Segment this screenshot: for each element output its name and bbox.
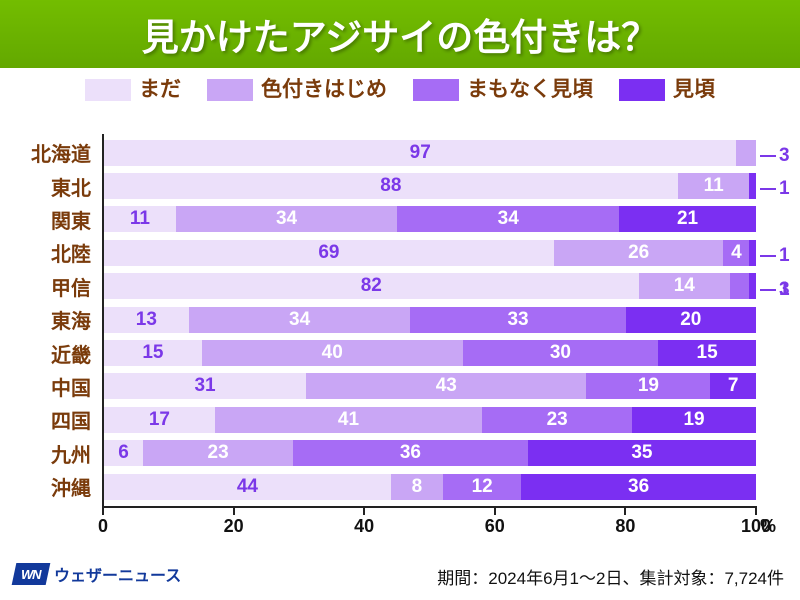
x-axis-tick-label: 80 xyxy=(615,516,635,537)
bar-segment[interactable]: 30 xyxy=(463,340,659,366)
legend-swatch-icon xyxy=(619,79,665,101)
bar-segment[interactable]: 14 xyxy=(639,273,730,299)
x-axis-tick-label: 20 xyxy=(224,516,244,537)
x-axis-tick xyxy=(363,506,365,515)
bar-value-label: 35 xyxy=(631,440,652,466)
bar-track: 3143197 xyxy=(104,373,756,399)
bar-segment[interactable]: 35 xyxy=(528,440,756,466)
brand-logo: WN ウェザーニュース xyxy=(14,562,181,586)
bar-segment[interactable]: 34 xyxy=(189,307,411,333)
bar-value-label: 36 xyxy=(400,440,421,466)
bar-value-label: 26 xyxy=(628,240,649,266)
bar-segment[interactable]: 12 xyxy=(443,474,521,500)
bar-value-label: 97 xyxy=(410,140,431,166)
bar-value-label: 44 xyxy=(237,474,258,500)
bar-segment[interactable]: 23 xyxy=(143,440,293,466)
page-title: 見かけたアジサイの色付きは？ xyxy=(0,0,800,68)
bar-segment[interactable]: 6 xyxy=(104,440,143,466)
bar-segment[interactable]: 15 xyxy=(658,340,756,366)
bar-value-label: 34 xyxy=(289,307,310,333)
bar-value-label: 36 xyxy=(628,474,649,500)
title-banner: 見かけたアジサイの色付きは？ xyxy=(0,0,800,68)
bar-value-label: 1 xyxy=(779,176,790,202)
bar-segment[interactable]: 11 xyxy=(104,206,176,232)
chart-row: 北陸692641 xyxy=(0,236,800,269)
legend-swatch-icon xyxy=(413,79,459,101)
x-axis-tick xyxy=(233,506,235,515)
bar-segment[interactable]: 41 xyxy=(215,407,482,433)
bar-segment[interactable]: 4 xyxy=(723,240,749,266)
bar-value-label: 1 xyxy=(779,277,790,303)
bar-value-label: 6 xyxy=(118,440,129,466)
bar-track: 11343421 xyxy=(104,206,756,232)
bar-value-label: 11 xyxy=(704,173,724,199)
bar-segment[interactable]: 43 xyxy=(306,373,586,399)
bar-value-label: 11 xyxy=(130,206,150,232)
chart-plot-area: 北海道973東北88111関東11343421北陸692641甲信821431東… xyxy=(0,112,800,512)
bar-value-label: 17 xyxy=(149,407,170,433)
bar-value-label: 15 xyxy=(697,340,718,366)
x-axis-tick-label: 100 xyxy=(741,516,771,537)
bar-value-label: 8 xyxy=(412,474,423,500)
footer: WN ウェザーニュース 期間：2024年6月1〜2日、集計対象：7,724件 xyxy=(0,556,800,600)
bar-segment[interactable]: 36 xyxy=(521,474,756,500)
bar-track: 973 xyxy=(104,140,756,166)
bar-segment[interactable]: 11 xyxy=(678,173,750,199)
bar-segment[interactable]: 13 xyxy=(104,307,189,333)
bar-value-label: 41 xyxy=(338,407,359,433)
bar-value-label: 30 xyxy=(550,340,571,366)
infographic-root: 見かけたアジサイの色付きは？ まだ色付きはじめまもなく見頃見頃 北海道973東北… xyxy=(0,0,800,600)
x-axis-tick xyxy=(624,506,626,515)
bar-value-callout: 1 xyxy=(760,243,790,269)
x-axis-tick-label: 0 xyxy=(98,516,108,537)
bar-value-label: 23 xyxy=(547,407,568,433)
bar-value-label: 14 xyxy=(674,273,695,299)
bar-segment[interactable]: 20 xyxy=(626,307,756,333)
bar-value-label: 3 xyxy=(779,143,790,169)
row-label-中国: 中国 xyxy=(51,370,91,403)
x-axis-tick-label: 60 xyxy=(485,516,505,537)
legend-label: まもなく見頃 xyxy=(467,79,593,101)
bar-track: 13343320 xyxy=(104,307,756,333)
bar-value-label: 82 xyxy=(361,273,382,299)
row-label-北海道: 北海道 xyxy=(31,136,91,169)
bar-value-callout: 3 xyxy=(760,143,790,169)
bar-value-callout: 1 xyxy=(760,277,790,303)
bar-segment[interactable]: 23 xyxy=(482,407,632,433)
bar-value-label: 40 xyxy=(322,340,343,366)
row-label-関東: 関東 xyxy=(51,203,91,236)
row-label-沖縄: 沖縄 xyxy=(51,470,91,503)
callout-leader-line xyxy=(760,155,776,157)
bar-value-label: 43 xyxy=(436,373,457,399)
bar-segment[interactable]: 44 xyxy=(104,474,391,500)
row-label-甲信: 甲信 xyxy=(51,270,91,303)
legend-item: 見頃 xyxy=(619,79,715,101)
survey-note: 期間：2024年6月1〜2日、集計対象：7,724件 xyxy=(437,564,784,589)
bar-value-label: 23 xyxy=(208,440,229,466)
bar-track: 6233635 xyxy=(104,440,756,466)
bar-value-label: 69 xyxy=(318,240,339,266)
legend-label: 色付きはじめ xyxy=(261,79,387,101)
x-axis: % 020406080100 xyxy=(0,506,800,540)
bar-value-label: 34 xyxy=(276,206,297,232)
bar-segment[interactable] xyxy=(749,240,756,266)
bar-value-label: 15 xyxy=(142,340,163,366)
bar-segment[interactable]: 31 xyxy=(104,373,306,399)
x-axis-tick xyxy=(755,506,757,515)
chart-row: 沖縄4481236 xyxy=(0,470,800,503)
brand-name: ウェザーニュース xyxy=(54,562,181,586)
bar-segment[interactable] xyxy=(736,140,756,166)
row-label-東海: 東海 xyxy=(51,303,91,336)
bar-value-label: 88 xyxy=(380,173,401,199)
chart-row: 東北88111 xyxy=(0,169,800,202)
bar-value-label: 4 xyxy=(731,240,742,266)
row-label-東北: 東北 xyxy=(51,169,91,202)
chart-row: 近畿15403015 xyxy=(0,336,800,369)
bar-track: 4481236 xyxy=(104,474,756,500)
bar-segment[interactable]: 26 xyxy=(554,240,724,266)
bar-value-label: 7 xyxy=(728,373,739,399)
wn-logo-icon: WN xyxy=(12,563,51,585)
bar-segment[interactable]: 88 xyxy=(104,173,678,199)
chart-legend: まだ色付きはじめまもなく見頃見頃 xyxy=(0,72,800,108)
bar-value-label: 21 xyxy=(677,206,698,232)
bar-track: 692641 xyxy=(104,240,756,266)
bar-value-label: 19 xyxy=(638,373,659,399)
bar-segment[interactable]: 17 xyxy=(104,407,215,433)
bar-track: 88111 xyxy=(104,173,756,199)
bar-value-label: 31 xyxy=(194,373,215,399)
bar-segment[interactable]: 15 xyxy=(104,340,202,366)
chart-row: 東海13343320 xyxy=(0,303,800,336)
chart-row: 北海道973 xyxy=(0,136,800,169)
bar-value-label: 20 xyxy=(680,307,701,333)
callout-leader-line xyxy=(760,188,776,190)
row-label-北陸: 北陸 xyxy=(51,236,91,269)
x-axis-line xyxy=(103,506,756,508)
chart-row: 四国17412319 xyxy=(0,403,800,436)
bar-value-callout: 1 xyxy=(760,176,790,202)
x-axis-tick-label: 40 xyxy=(354,516,374,537)
bar-segment[interactable] xyxy=(730,273,750,299)
bar-segment[interactable]: 40 xyxy=(202,340,463,366)
bar-track: 17412319 xyxy=(104,407,756,433)
bar-segment[interactable]: 97 xyxy=(104,140,736,166)
bar-value-label: 13 xyxy=(136,307,157,333)
callout-leader-line xyxy=(760,255,776,257)
row-label-近畿: 近畿 xyxy=(51,336,91,369)
bar-value-label: 1 xyxy=(779,243,790,269)
legend-item: まだ xyxy=(85,79,181,101)
bar-segment[interactable] xyxy=(749,173,756,199)
legend-swatch-icon xyxy=(85,79,131,101)
bar-segment[interactable]: 19 xyxy=(586,373,710,399)
callout-leader-line xyxy=(760,289,776,291)
legend-swatch-icon xyxy=(207,79,253,101)
legend-label: まだ xyxy=(139,79,181,101)
bar-value-label: 33 xyxy=(507,307,528,333)
bar-segment[interactable]: 7 xyxy=(710,373,756,399)
row-label-四国: 四国 xyxy=(51,403,91,436)
bar-segment[interactable]: 36 xyxy=(293,440,528,466)
bar-value-label: 12 xyxy=(472,474,493,500)
legend-label: 見頃 xyxy=(673,79,715,101)
chart-row: 九州6233635 xyxy=(0,437,800,470)
bar-segment[interactable]: 69 xyxy=(104,240,554,266)
bar-track: 15403015 xyxy=(104,340,756,366)
bar-segment[interactable]: 33 xyxy=(410,307,625,333)
chart-row: 中国3143197 xyxy=(0,370,800,403)
bar-segment[interactable] xyxy=(749,273,756,299)
bar-segment[interactable]: 34 xyxy=(176,206,398,232)
bar-value-label: 19 xyxy=(683,407,704,433)
bar-segment[interactable]: 8 xyxy=(391,474,443,500)
chart-row: 関東11343421 xyxy=(0,203,800,236)
legend-item: 色付きはじめ xyxy=(207,79,387,101)
row-label-九州: 九州 xyxy=(51,437,91,470)
legend-item: まもなく見頃 xyxy=(413,79,593,101)
x-axis-tick xyxy=(102,506,104,515)
chart-row: 甲信821431 xyxy=(0,270,800,303)
bar-segment[interactable]: 34 xyxy=(397,206,619,232)
bar-segment[interactable]: 21 xyxy=(619,206,756,232)
bar-segment[interactable]: 19 xyxy=(632,407,756,433)
bar-track: 821431 xyxy=(104,273,756,299)
bar-value-label: 34 xyxy=(498,206,519,232)
bar-segment[interactable]: 82 xyxy=(104,273,639,299)
x-axis-tick xyxy=(494,506,496,515)
